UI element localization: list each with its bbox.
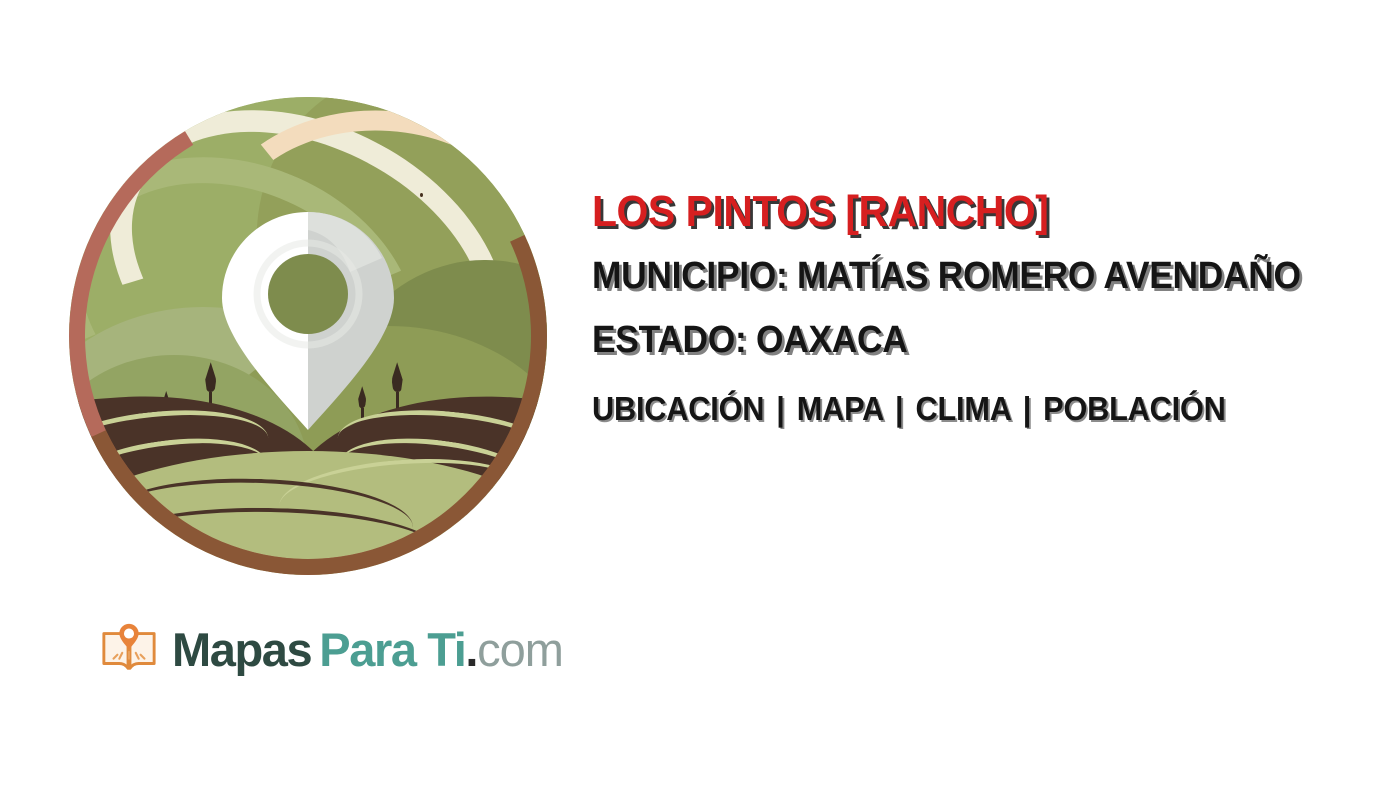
link-clima[interactable]: CLIMA xyxy=(916,390,1011,427)
page-root: LOS PINTOS [RANCHO] MUNICIPIO: MATÍAS RO… xyxy=(0,0,1400,786)
link-poblacion[interactable]: POBLACIÓN xyxy=(1043,390,1225,427)
municipio-line: MUNICIPIO: MATÍAS ROMERO AVENDAÑO xyxy=(592,244,1364,308)
open-book-map-pin-logo-icon xyxy=(100,620,158,678)
map-pin-icon xyxy=(222,212,394,430)
info-block: LOS PINTOS [RANCHO] MUNICIPIO: MATÍAS RO… xyxy=(592,184,1400,440)
link-ubicacion[interactable]: UBICACIÓN xyxy=(592,390,764,427)
link-mapa[interactable]: MAPA xyxy=(797,390,883,427)
brand-word-dot: . xyxy=(465,626,477,673)
brand-word-parati: Para Ti xyxy=(319,626,465,673)
rural-landscape-map-pin-emblem-icon xyxy=(69,97,547,575)
link-separator: | xyxy=(1019,390,1035,427)
brand-wordmark: Mapas Para Ti . com xyxy=(172,626,563,673)
link-separator: | xyxy=(891,390,907,427)
emblem-container xyxy=(69,97,547,575)
section-links: UBICACIÓN | MAPA | CLIMA | POBLACIÓN xyxy=(592,378,1364,440)
brand-word-com: com xyxy=(477,626,563,673)
estado-line: ESTADO: OAXACA xyxy=(592,308,1364,372)
emblem-scene xyxy=(69,97,547,575)
link-separator: | xyxy=(773,390,789,427)
brand-word-mapas: Mapas xyxy=(172,626,311,673)
brand-lockup[interactable]: Mapas Para Ti . com xyxy=(100,620,563,678)
page-title: LOS PINTOS [RANCHO] xyxy=(592,184,1364,240)
